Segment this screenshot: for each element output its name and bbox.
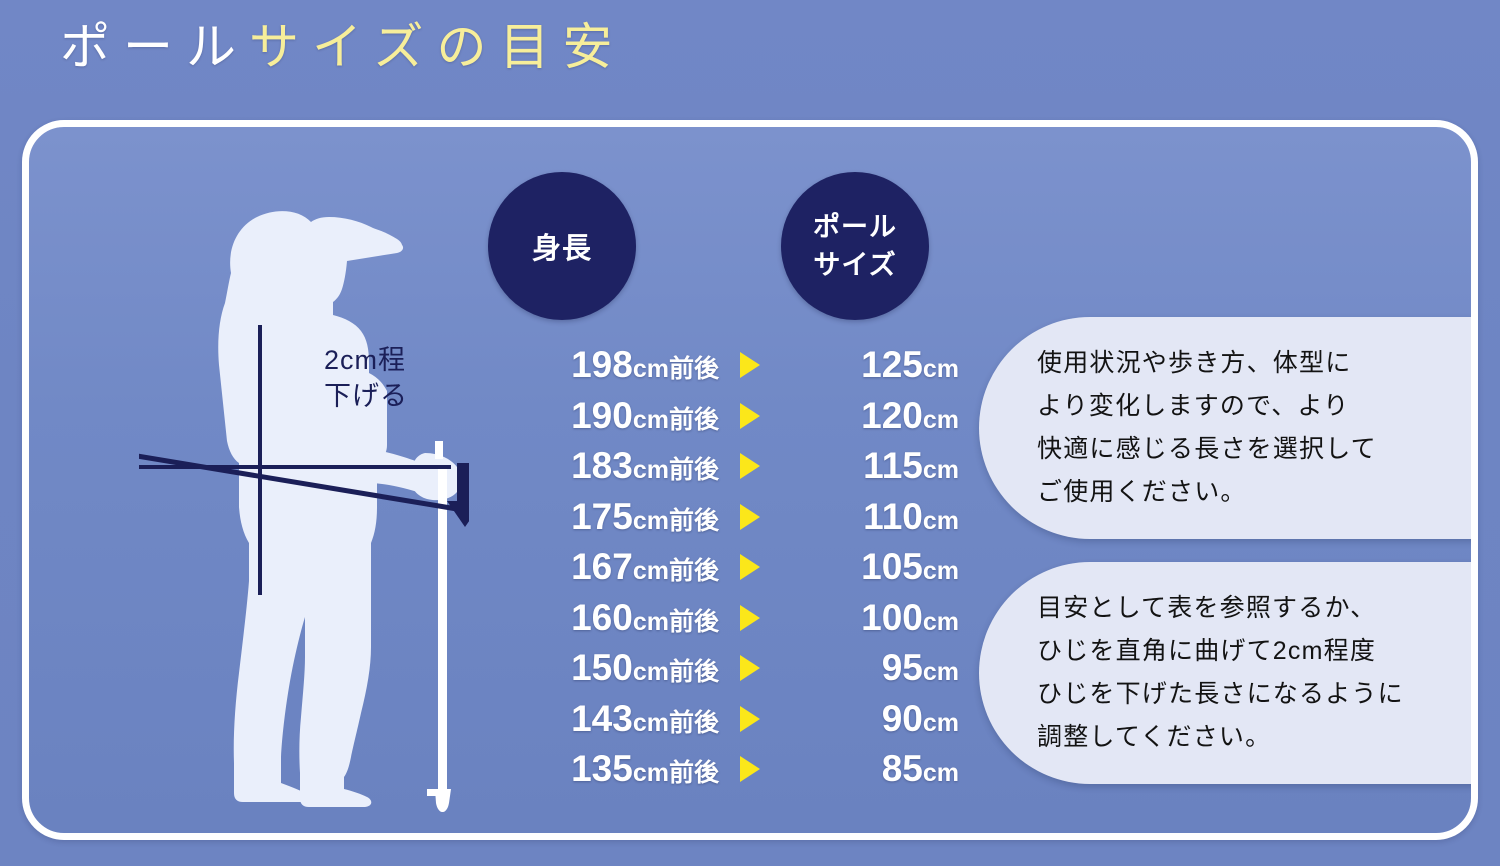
cell-height: 198cm前後: [469, 344, 719, 386]
cell-pole-unit: cm: [923, 406, 959, 434]
cell-height-unit: cm: [633, 557, 669, 585]
cell-height: 190cm前後: [469, 395, 719, 437]
cell-pole-size: 115cm: [781, 445, 959, 487]
cell-height-unit: cm: [633, 709, 669, 737]
illustration-figure: 2cm程 下げる: [139, 177, 469, 817]
row-arrow-icon: [719, 403, 781, 429]
cell-pole-size: 105cm: [781, 546, 959, 588]
triangle-right-icon: [740, 706, 760, 732]
cell-height-value: 160: [571, 597, 633, 638]
cell-pole-value: 95: [882, 647, 923, 688]
cell-pole-size: 125cm: [781, 344, 959, 386]
cell-pole-value: 105: [861, 546, 923, 587]
triangle-right-icon: [740, 504, 760, 530]
callout-note-1: 使用状況や歩き方、体型により変化しますので、より快適に感じる長さを選択してご使用…: [979, 317, 1478, 539]
cell-height-unit: cm: [633, 355, 669, 383]
callout-line: ひじを下げた長さになるように: [1037, 673, 1478, 716]
table-row: 135cm前後85cm: [469, 744, 959, 795]
table-row: 183cm前後115cm: [469, 441, 959, 492]
callout-line: ひじを直角に曲げて2cm程度: [1037, 630, 1478, 673]
cell-height-suffix: 前後: [669, 507, 719, 535]
row-arrow-icon: [719, 605, 781, 631]
cell-pole-unit: cm: [923, 709, 959, 737]
column-header-pole-line1: ポール: [813, 208, 897, 246]
table-row: 167cm前後105cm: [469, 542, 959, 593]
cell-height-suffix: 前後: [669, 557, 719, 585]
page-title-yellow: サイズの目安: [249, 19, 626, 75]
cell-height-unit: cm: [633, 608, 669, 636]
callout-line: ご使用ください。: [1037, 471, 1478, 514]
cell-pole-size: 85cm: [781, 748, 959, 790]
cell-pole-unit: cm: [923, 456, 959, 484]
cell-pole-unit: cm: [923, 507, 959, 535]
cell-pole-value: 125: [861, 344, 923, 385]
callout-line: 目安として表を参照するか、: [1037, 587, 1478, 630]
cell-height: 150cm前後: [469, 647, 719, 689]
cell-pole-unit: cm: [923, 759, 959, 787]
table-row: 175cm前後110cm: [469, 492, 959, 543]
cell-height-value: 143: [571, 698, 633, 739]
cell-height-value: 135: [571, 748, 633, 789]
table-row: 160cm前後100cm: [469, 593, 959, 644]
cell-height-value: 175: [571, 496, 633, 537]
cell-height-value: 198: [571, 344, 633, 385]
column-header-pole-line2: サイズ: [813, 246, 897, 284]
triangle-right-icon: [740, 605, 760, 631]
column-header-pole-size: ポール サイズ: [781, 172, 929, 320]
column-header-height: 身長: [488, 172, 636, 320]
callout-note-2: 目安として表を参照するか、ひじを直角に曲げて2cm程度ひじを下げた長さになるよう…: [979, 562, 1478, 784]
triangle-right-icon: [740, 756, 760, 782]
cell-height: 135cm前後: [469, 748, 719, 790]
cell-height: 183cm前後: [469, 445, 719, 487]
table-row: 150cm前後95cm: [469, 643, 959, 694]
cell-height-unit: cm: [633, 456, 669, 484]
cell-pole-size: 90cm: [781, 698, 959, 740]
cell-pole-size: 120cm: [781, 395, 959, 437]
cell-pole-value: 90: [882, 698, 923, 739]
cell-pole-value: 100: [861, 597, 923, 638]
cell-pole-value: 85: [882, 748, 923, 789]
triangle-right-icon: [740, 352, 760, 378]
cell-height: 167cm前後: [469, 546, 719, 588]
cell-height-unit: cm: [633, 658, 669, 686]
row-arrow-icon: [719, 504, 781, 530]
cell-pole-size: 110cm: [781, 496, 959, 538]
cell-height-suffix: 前後: [669, 456, 719, 484]
cell-height-value: 190: [571, 395, 633, 436]
row-arrow-icon: [719, 756, 781, 782]
cell-height-value: 150: [571, 647, 633, 688]
cell-height: 175cm前後: [469, 496, 719, 538]
cell-pole-size: 100cm: [781, 597, 959, 639]
cell-height: 160cm前後: [469, 597, 719, 639]
cell-height-unit: cm: [633, 406, 669, 434]
size-guide-table: 198cm前後125cm190cm前後120cm183cm前後115cm175c…: [469, 340, 959, 795]
infographic-stage: ポールサイズの目安: [0, 0, 1500, 866]
illustration-note: 2cm程 下げる: [324, 342, 408, 414]
cell-height-unit: cm: [633, 759, 669, 787]
cell-pole-value: 115: [863, 445, 923, 486]
cell-height-suffix: 前後: [669, 608, 719, 636]
row-arrow-icon: [719, 554, 781, 580]
cell-height-suffix: 前後: [669, 355, 719, 383]
callout-line: 使用状況や歩き方、体型に: [1037, 342, 1478, 385]
callout-line: 調整してください。: [1037, 716, 1478, 759]
column-header-height-label: 身長: [532, 225, 592, 267]
row-arrow-icon: [719, 453, 781, 479]
triangle-right-icon: [740, 403, 760, 429]
callout-line: より変化しますので、より: [1037, 385, 1478, 428]
cell-height-unit: cm: [633, 507, 669, 535]
illustration-note-line1: 2cm程: [324, 342, 408, 378]
cell-pole-unit: cm: [923, 658, 959, 686]
triangle-right-icon: [740, 655, 760, 681]
cell-pole-value: 110: [863, 496, 923, 537]
cell-pole-unit: cm: [923, 557, 959, 585]
cell-pole-unit: cm: [923, 608, 959, 636]
table-row: 190cm前後120cm: [469, 391, 959, 442]
triangle-right-icon: [740, 554, 760, 580]
table-row: 198cm前後125cm: [469, 340, 959, 391]
person-with-walking-pole-silhouette: [139, 177, 469, 817]
cell-pole-unit: cm: [923, 355, 959, 383]
page-title: ポールサイズの目安: [60, 17, 626, 77]
table-row: 143cm前後90cm: [469, 694, 959, 745]
row-arrow-icon: [719, 352, 781, 378]
cell-pole-size: 95cm: [781, 647, 959, 689]
cell-height-suffix: 前後: [669, 709, 719, 737]
row-arrow-icon: [719, 655, 781, 681]
cell-height-value: 167: [571, 546, 633, 587]
callout-line: 快適に感じる長さを選択して: [1037, 428, 1478, 471]
cell-height-value: 183: [571, 445, 633, 486]
cell-height: 143cm前後: [469, 698, 719, 740]
row-arrow-icon: [719, 706, 781, 732]
cell-height-suffix: 前後: [669, 759, 719, 787]
page-title-white: ポール: [60, 19, 249, 75]
cell-pole-value: 120: [861, 395, 923, 436]
illustration-note-line2: 下げる: [324, 378, 408, 414]
main-panel: 2cm程 下げる 身長 ポール サイズ 198cm前後125cm190cm前後1…: [22, 120, 1478, 840]
cell-height-suffix: 前後: [669, 658, 719, 686]
triangle-right-icon: [740, 453, 760, 479]
cell-height-suffix: 前後: [669, 406, 719, 434]
